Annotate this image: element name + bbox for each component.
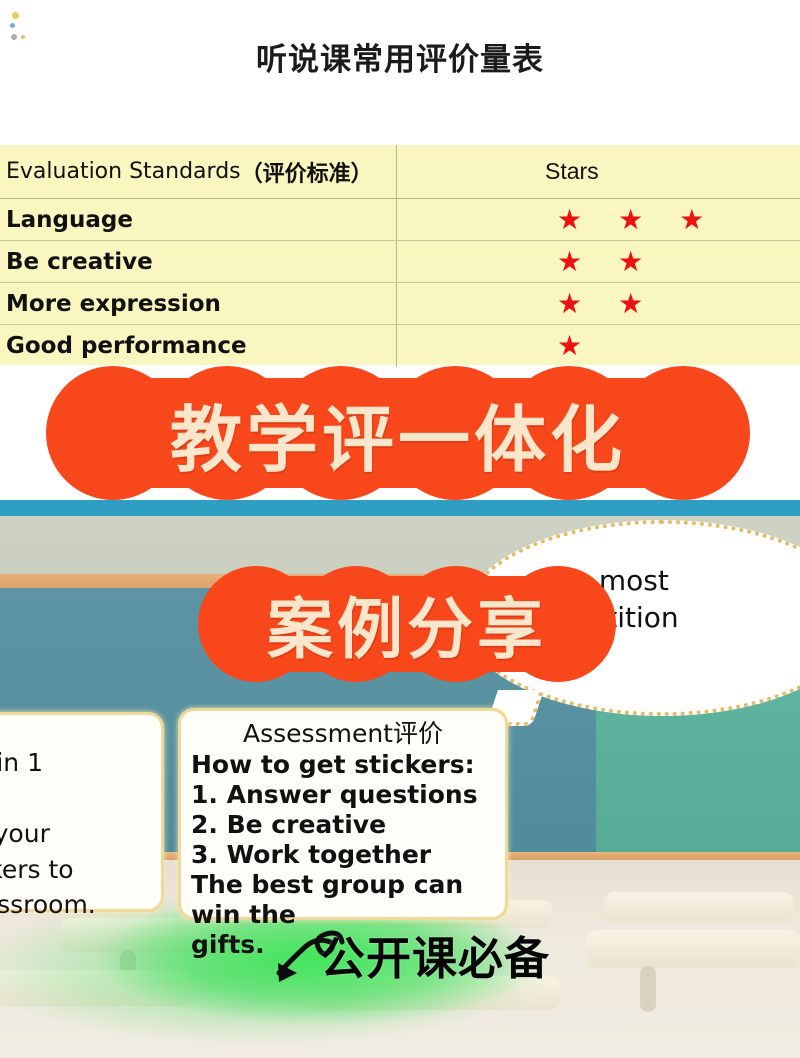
header-standards-cn: （评价标准） xyxy=(241,156,373,188)
table-row: Good performance ★ xyxy=(0,325,800,367)
page-title: 听说课常用评价量表 xyxy=(0,34,800,79)
row-stars-good-performance: ★ xyxy=(397,325,800,367)
star-icon: ★ xyxy=(557,206,582,234)
desk-leg xyxy=(640,966,656,1012)
row-label-language: Language xyxy=(0,199,397,240)
star-icon: ★ xyxy=(618,248,643,276)
header-stars-cell: Stars xyxy=(397,145,800,198)
speech-bubble-left-text: s are in 1 d try your t stickers to ur c… xyxy=(0,723,151,923)
row-label-be-creative: Be creative xyxy=(0,241,397,282)
desk xyxy=(586,930,800,968)
wall-top-strip xyxy=(0,500,800,516)
dot-blue-icon xyxy=(10,23,15,28)
star-icon: ★ xyxy=(557,332,582,360)
speech-bubble-assessment: Assessment评价 How to get stickers: 1. Ans… xyxy=(178,708,508,920)
header-standards-en: Evaluation Standards xyxy=(6,159,241,184)
star-icon: ★ xyxy=(557,248,582,276)
screenshot-canvas: 听说课常用评价量表 Evaluation Standards （评价标准） St… xyxy=(0,0,800,1058)
table-row: More expression ★ ★ xyxy=(0,283,800,325)
star-icon: ★ xyxy=(679,206,704,234)
row-stars-more-expression: ★ ★ xyxy=(397,283,800,324)
banner-case-label: 案例分享 xyxy=(198,566,616,682)
row-stars-language: ★ ★ ★ xyxy=(397,199,800,240)
header-standards-cell: Evaluation Standards （评价标准） xyxy=(0,145,397,198)
desk xyxy=(0,970,190,1006)
row-label-good-performance: Good performance xyxy=(0,325,397,367)
evaluation-rubric-table: Evaluation Standards （评价标准） Stars Langua… xyxy=(0,143,800,365)
desk xyxy=(604,892,794,922)
assessment-title: Assessment评价 xyxy=(191,719,495,749)
dot-yellow-icon xyxy=(12,12,19,19)
star-icon: ★ xyxy=(618,206,643,234)
banner-teaching-integration: 教学评一体化 xyxy=(46,366,750,500)
table-header-row: Evaluation Standards （评价标准） Stars xyxy=(0,145,800,199)
row-label-more-expression: More expression xyxy=(0,283,397,324)
star-icon: ★ xyxy=(557,290,582,318)
table-row: Be creative ★ ★ xyxy=(0,241,800,283)
table-row: Language ★ ★ ★ xyxy=(0,199,800,241)
banner-case-sharing: 案例分享 xyxy=(198,566,616,682)
status-badge: 公开课必备 xyxy=(320,922,550,987)
row-stars-be-creative: ★ ★ xyxy=(397,241,800,282)
star-icon: ★ xyxy=(618,290,643,318)
banner-main-label: 教学评一体化 xyxy=(46,366,750,500)
speech-bubble-left: s are in 1 d try your t stickers to ur c… xyxy=(0,712,164,912)
